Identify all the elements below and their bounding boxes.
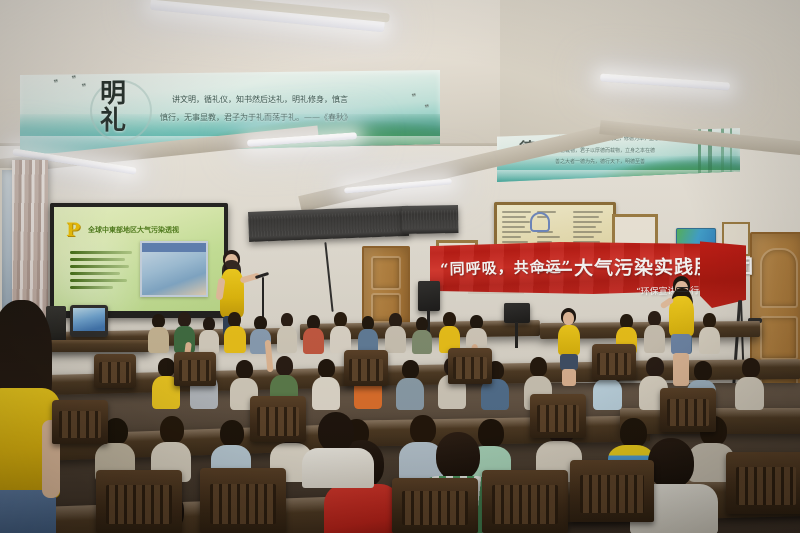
child-head <box>470 315 483 329</box>
glasses-icon <box>676 287 689 292</box>
chair <box>250 396 306 442</box>
mural-poem-left-line2: 慎行，无事显教，君子为于礼而荡于礼。——《春秋》 <box>160 112 352 124</box>
slide-logo-p: P <box>66 219 80 241</box>
adult-shirt <box>302 448 374 488</box>
child-head <box>276 356 293 376</box>
child-head <box>402 360 419 379</box>
child-head <box>152 314 165 328</box>
child-head <box>236 360 253 379</box>
chair <box>530 394 586 438</box>
chair <box>592 344 636 380</box>
chair <box>94 354 136 388</box>
child-head <box>334 312 347 327</box>
door-panel <box>371 256 401 290</box>
child-head <box>703 313 716 328</box>
child-head <box>254 316 267 330</box>
mural-poem-left-line1: 讲文明，循礼仪，知书然后达礼，明礼修身，慎言 <box>172 94 348 106</box>
chair <box>660 388 716 432</box>
slide-illustration <box>140 241 208 297</box>
chair <box>448 348 492 384</box>
child-head <box>203 317 215 331</box>
child-head <box>648 438 694 488</box>
raised-hand <box>265 340 274 372</box>
chair <box>726 452 800 514</box>
slide-bullet-list <box>70 251 132 293</box>
child-head <box>443 312 456 327</box>
slide-illustration-caption-bar <box>142 243 206 252</box>
projection-screen: P 全球中東部地区大气污染透视 <box>54 207 224 311</box>
chair <box>344 350 388 386</box>
child-head <box>220 420 244 447</box>
child-shirt <box>324 484 400 533</box>
child-head <box>648 311 661 326</box>
chair <box>96 470 182 533</box>
bird-icon: ❞ <box>71 74 78 86</box>
child-head <box>318 359 335 378</box>
mural-big-character-left: 明 礼 <box>100 81 127 134</box>
bird-icon: ❞ <box>81 82 88 94</box>
chair <box>200 468 286 533</box>
child-head <box>178 312 191 327</box>
child-head <box>228 312 241 327</box>
child-head <box>281 313 293 327</box>
chair <box>52 400 108 444</box>
chair <box>570 460 654 522</box>
adult-head <box>318 412 354 452</box>
projector-screen-valance <box>248 206 409 242</box>
child-head <box>416 317 428 331</box>
bird-icon: ❞ <box>424 103 431 115</box>
child-head <box>646 357 664 377</box>
bird-icon: ❞ <box>411 92 418 104</box>
banner-tail-fold <box>700 240 746 308</box>
child-head <box>362 316 374 330</box>
child-head <box>158 358 175 377</box>
child-head <box>436 432 480 480</box>
child-head <box>694 361 712 381</box>
mural-poem-right-line3: 善之大者一德为先，德行天下，明德至善 <box>555 159 645 167</box>
chair <box>392 478 478 533</box>
bird-icon: ❞ <box>53 78 60 90</box>
adult-foreground-white-shirt <box>300 412 380 482</box>
volunteer-head <box>563 312 574 325</box>
board-center-icon <box>530 212 550 232</box>
classroom-photo-scene: 明 礼 讲文明，循礼仪，知书然后达礼，明礼修身，慎言 慎行，无事显教，君子为于礼… <box>0 0 800 533</box>
chair <box>482 470 568 533</box>
child-head <box>742 358 760 378</box>
slide-title: 全球中東部地区大气污染透视 <box>88 225 179 235</box>
child-head <box>530 357 547 377</box>
projector-screen-valance-2 <box>402 205 458 234</box>
door-panel <box>760 248 798 308</box>
chair <box>174 352 216 386</box>
child-head <box>160 416 184 444</box>
